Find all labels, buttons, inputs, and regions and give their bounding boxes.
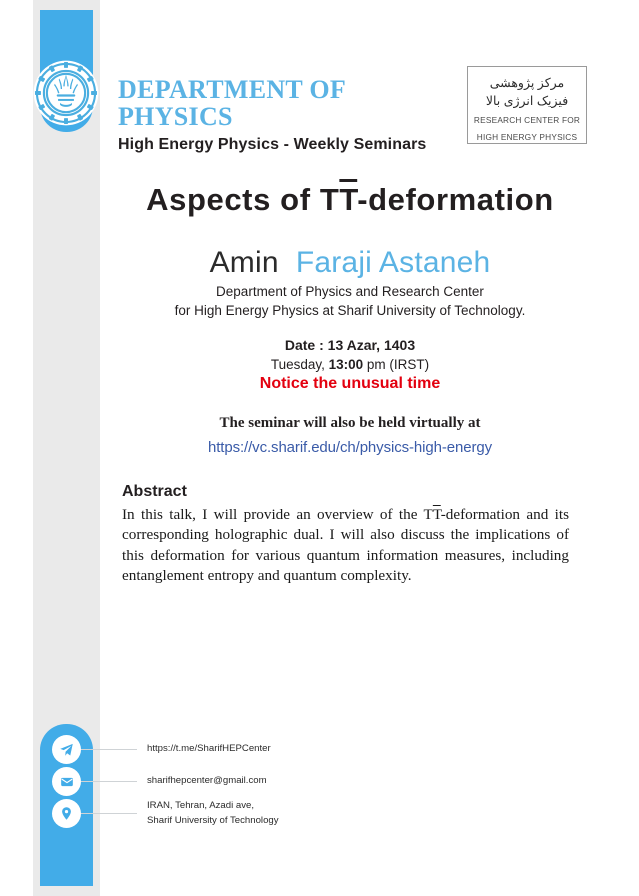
unusual-time-notice: Notice the unusual time xyxy=(100,375,600,393)
email-address-text[interactable]: sharifhepcenter@gmail.com xyxy=(147,774,267,788)
contact-telegram[interactable]: https://t.me/SharifHEPCenter xyxy=(52,735,271,764)
connector-line-telegram xyxy=(81,749,137,750)
seminar-time: Tuesday, 13:00 pm (IRST) xyxy=(100,357,600,372)
speaker-first-name: Amin xyxy=(210,246,279,279)
abstract-overline-tbar: T xyxy=(433,506,441,523)
email-icon xyxy=(52,767,81,796)
header-titles: DEPARTMENT OF PHYSICS High Energy Physic… xyxy=(118,76,458,154)
affiliation-line-1: Department of Physics and Research Cente… xyxy=(100,282,600,301)
address-text: IRAN, Tehran, Azadi ave, Sharif Universi… xyxy=(147,799,279,828)
seminar-date: Date : 13 Azar, 1403 xyxy=(100,337,600,353)
connector-line-address xyxy=(81,813,137,814)
department-title: DEPARTMENT OF PHYSICS xyxy=(118,76,458,131)
abstract-heading: Abstract xyxy=(122,483,187,501)
speaker-affiliation: Department of Physics and Research Cente… xyxy=(100,282,600,320)
address-line-1: IRAN, Tehran, Azadi ave, xyxy=(147,800,254,811)
contact-email[interactable]: sharifhepcenter@gmail.com xyxy=(52,767,267,796)
title-overline-tbar: T xyxy=(339,182,357,217)
seminar-day: Tuesday, xyxy=(271,357,329,372)
connector-line-email xyxy=(81,781,137,782)
contact-address: IRAN, Tehran, Azadi ave, Sharif Universi… xyxy=(52,799,279,828)
title-suffix: -deformation xyxy=(357,182,554,217)
speaker-name: Amin Faraji Astaneh xyxy=(100,246,600,280)
speaker-last-name: Faraji Astaneh xyxy=(296,246,491,279)
telegram-link-text[interactable]: https://t.me/SharifHEPCenter xyxy=(147,742,271,756)
sharif-university-logo-icon xyxy=(33,60,99,126)
seminar-timezone: pm (IRST) xyxy=(363,357,429,372)
page-title: Aspects of TT-deformation xyxy=(100,182,600,218)
affiliation-line-2: for High Energy Physics at Sharif Univer… xyxy=(100,301,600,320)
virtual-meeting-link[interactable]: https://vc.sharif.edu/ch/physics-high-en… xyxy=(100,439,600,456)
research-center-english-line2: HIGH ENERGY PHYSICS xyxy=(468,132,586,144)
telegram-icon xyxy=(52,735,81,764)
abstract-text: In this talk, I will provide an overview… xyxy=(122,505,569,586)
title-prefix: Aspects of T xyxy=(146,182,339,217)
abstract-part-1: In this talk, I will provide an overview… xyxy=(122,506,433,523)
research-center-badge: مرکز پژوهشی فیزیک انرژی بالا RESEARCH CE… xyxy=(467,66,587,144)
research-center-persian-line2: فیزیک انرژی بالا xyxy=(468,92,586,110)
virtual-attendance-block: The seminar will also be held virtually … xyxy=(100,415,600,456)
seminar-clock-time: 13:00 xyxy=(329,357,364,372)
address-line-2: Sharif University of Technology xyxy=(147,815,279,826)
seminar-series-subtitle: High Energy Physics - Weekly Seminars xyxy=(118,136,458,154)
virtual-lead-text: The seminar will also be held virtually … xyxy=(100,415,600,432)
footer-contacts: https://t.me/SharifHEPCenter sharifhepce… xyxy=(0,728,639,848)
location-icon xyxy=(52,799,81,828)
schedule-block: Date : 13 Azar, 1403 Tuesday, 13:00 pm (… xyxy=(100,337,600,393)
research-center-english-line1: RESEARCH CENTER FOR xyxy=(468,115,586,127)
research-center-persian-line1: مرکز پژوهشی xyxy=(468,74,586,92)
